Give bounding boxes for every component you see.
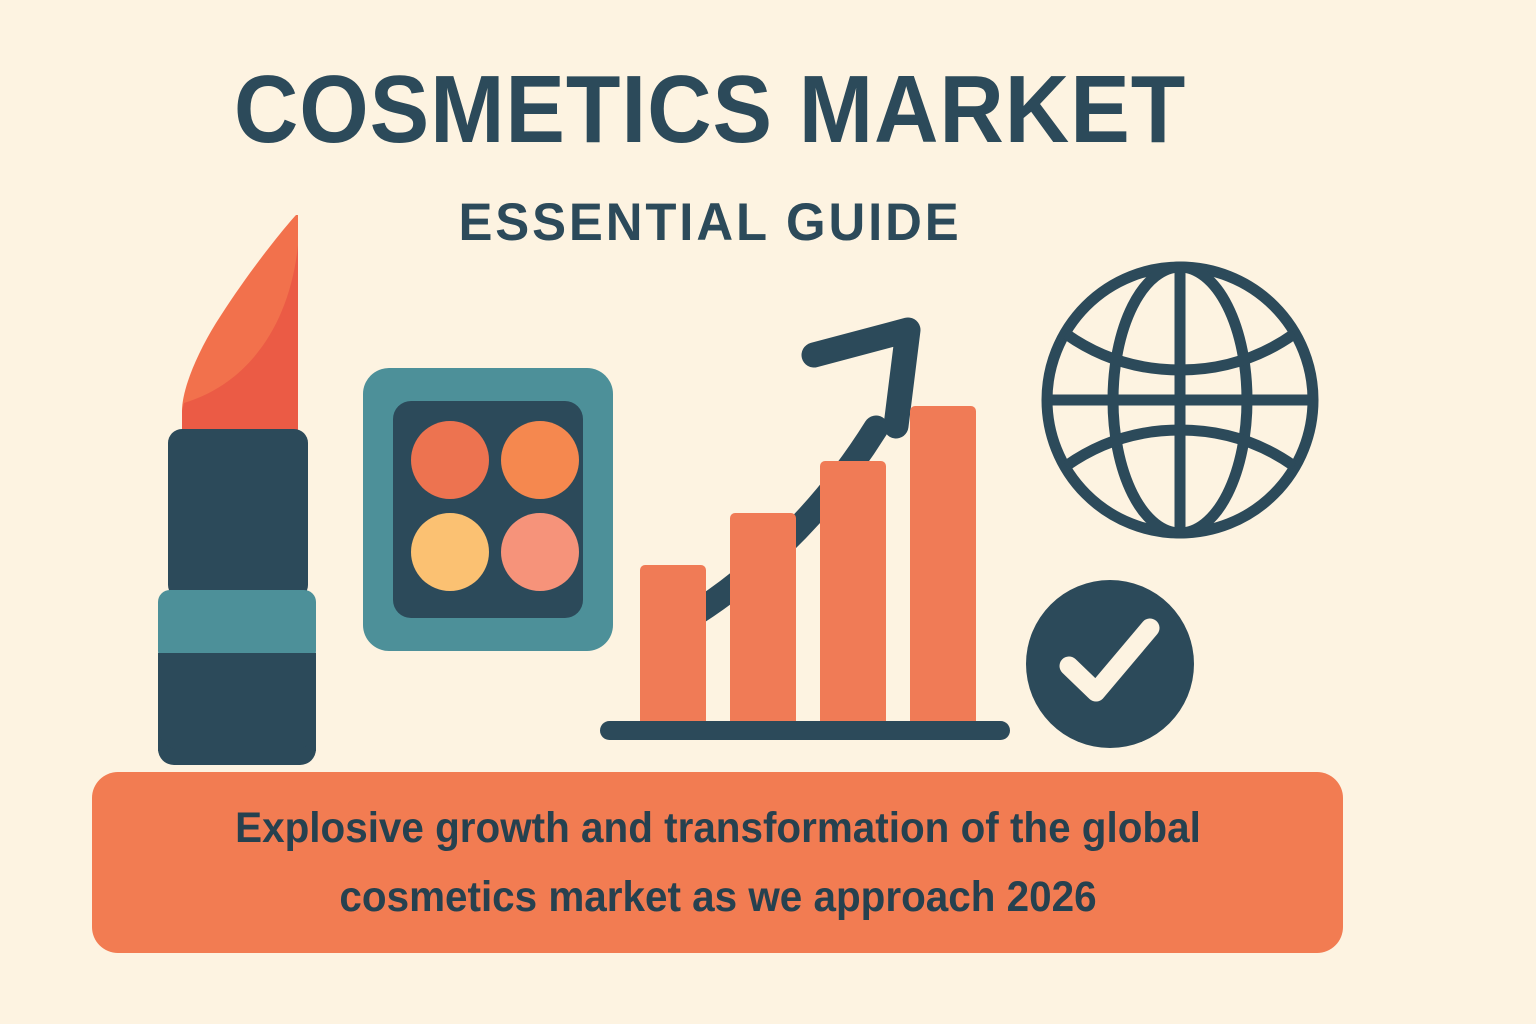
palette-pan-top-left (411, 421, 489, 499)
growth-bar-chart (596, 300, 1016, 750)
bar-2 (730, 513, 796, 722)
palette-pan-bottom-left (411, 513, 489, 591)
summary-banner-text: Explosive growth and transformation of t… (135, 794, 1301, 932)
palette-inner-tray (393, 401, 583, 618)
check-circle-icon (1024, 578, 1196, 750)
page-title: COSMETICS MARKET (50, 62, 1371, 158)
infographic-poster: COSMETICS MARKET ESSENTIAL GUIDE (0, 0, 1536, 1024)
bar-4 (910, 406, 976, 722)
title-block: COSMETICS MARKET (0, 62, 1420, 158)
palette-pan-bottom-right (501, 513, 579, 591)
bar-3 (820, 461, 886, 722)
summary-banner: Explosive growth and transformation of t… (92, 772, 1343, 953)
palette-pan-top-right (501, 421, 579, 499)
lipstick-icon (150, 205, 370, 765)
globe-icon (1038, 258, 1322, 542)
eyeshadow-palette-icon (363, 368, 613, 651)
chart-baseline (600, 721, 1010, 740)
bar-1 (640, 565, 706, 722)
